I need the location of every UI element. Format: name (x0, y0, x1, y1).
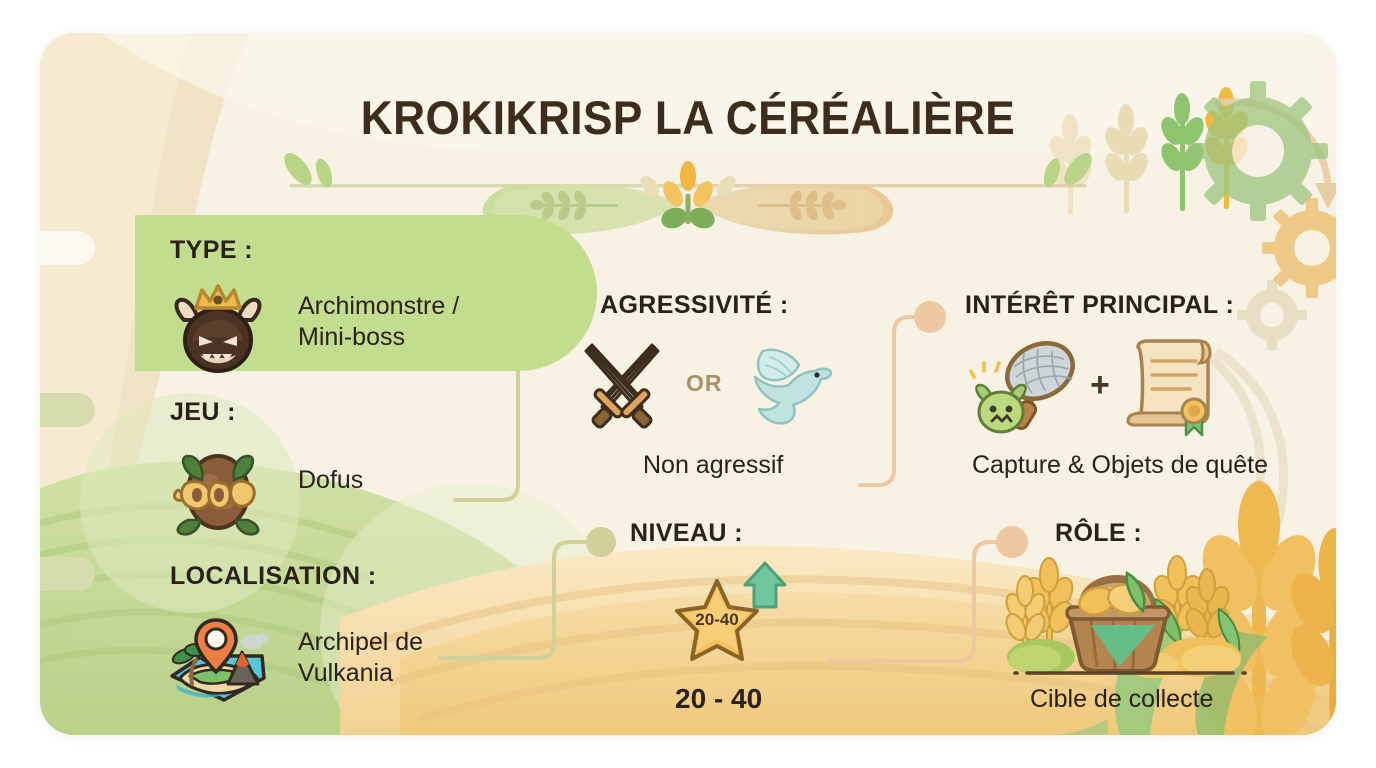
crossed-swords-icon (572, 333, 672, 433)
localisation-tab (40, 557, 95, 591)
localisation-value: Archipel de Vulkania (298, 627, 523, 689)
infographic-canvas: KROKIKRISP LA CÉRÉALIÈRE (0, 0, 1376, 768)
niveau-value: 20 - 40 (675, 683, 762, 715)
crowned-monster-icon (166, 276, 270, 380)
niveau-icons: 20-40 (665, 555, 795, 665)
niveau-label: NIVEAU : (630, 519, 743, 548)
island-map-pin-icon (166, 602, 270, 706)
leaf-icon (279, 148, 335, 189)
jeu-label: JEU : (170, 398, 236, 427)
niveau-badge: 20-40 (695, 610, 738, 629)
green-up-arrow-icon (745, 563, 785, 607)
dofus-logo-icon (166, 438, 270, 542)
dove-icon (737, 333, 837, 433)
capture-net-icon (970, 333, 1080, 438)
leaf-icon (1041, 148, 1097, 189)
or-separator: OR (686, 370, 723, 397)
interet-label: INTÉRÊT PRINCIPAL : (965, 291, 1234, 320)
jeu-tab (40, 393, 95, 427)
interet-value: Capture & Objets de quête (972, 451, 1268, 480)
gold-star-icon: 20-40 (677, 581, 757, 659)
type-label: TYPE : (170, 236, 253, 265)
type-tab (40, 231, 95, 265)
role-label: RÔLE : (1055, 519, 1142, 548)
page-title: KROKIKRISP LA CÉRÉALIÈRE (79, 90, 1297, 145)
interet-icons: + (970, 333, 1220, 438)
jeu-value: Dofus (298, 465, 523, 496)
harvest-basket-icon (1005, 553, 1255, 683)
type-value: Archimonstre / Mini-boss (298, 291, 523, 353)
quest-scroll-icon (1120, 333, 1220, 438)
plus-separator: + (1090, 366, 1110, 405)
agressivite-value: Non agressif (643, 451, 783, 480)
localisation-label: LOCALISATION : (170, 562, 377, 591)
infographic-card: KROKIKRISP LA CÉRÉALIÈRE (40, 33, 1336, 735)
role-value: Cible de collecte (1030, 685, 1213, 714)
agressivite-icons: OR (572, 333, 837, 433)
agressivite-label: AGRESSIVITÉ : (600, 291, 789, 320)
